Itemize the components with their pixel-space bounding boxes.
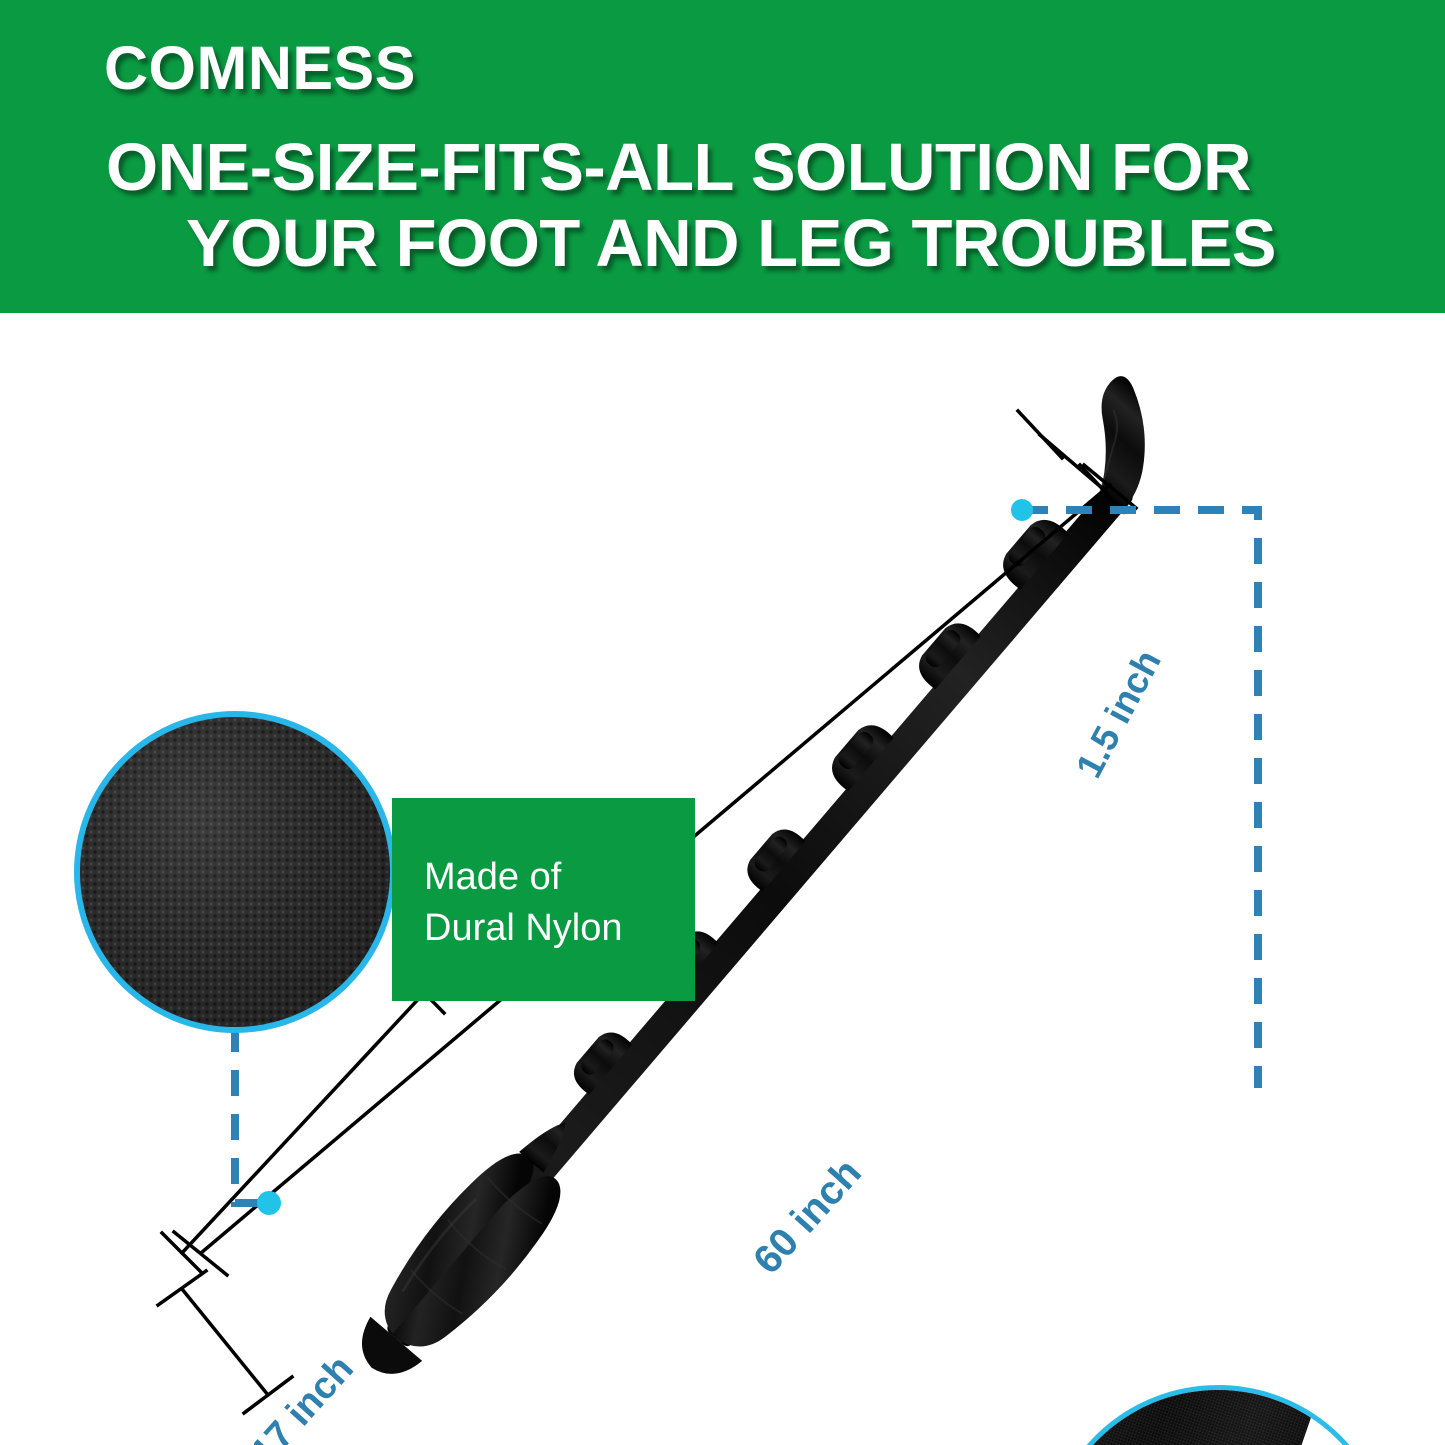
- product-diagram-area: Made of Dural Nylon Padded Neoprene Hand…: [0, 313, 1445, 1445]
- callout-material: Made of Dural Nylon: [392, 798, 695, 1001]
- callout-material-line-2: Dural Nylon: [424, 903, 695, 954]
- dimension-line-5: [158, 1271, 292, 1413]
- strap-end-loop: [1051, 372, 1189, 512]
- leader-dot-handle: [257, 1191, 281, 1215]
- leader-dot-strap-top: [1011, 499, 1033, 521]
- headline-line-2: YOUR FOOT AND LEG TROUBLES: [106, 206, 1356, 282]
- page-title: ONE-SIZE-FITS-ALL SOLUTION FOR YOUR FOOT…: [106, 130, 1356, 281]
- leader-line-top: [1022, 510, 1258, 1088]
- product-infographic: COMNESS ONE-SIZE-FITS-ALL SOLUTION FOR Y…: [0, 0, 1445, 1445]
- inset-handle-strap: [1044, 1385, 1344, 1445]
- headline-line-1: ONE-SIZE-FITS-ALL SOLUTION FOR: [106, 130, 1356, 206]
- callout-material-line-1: Made of: [424, 852, 695, 903]
- inset-nylon-texture: [74, 711, 396, 1033]
- inset-nylon-sheen: [80, 717, 390, 1027]
- brand-name: COMNESS: [104, 36, 416, 100]
- header-banner: COMNESS ONE-SIZE-FITS-ALL SOLUTION FOR Y…: [0, 0, 1445, 313]
